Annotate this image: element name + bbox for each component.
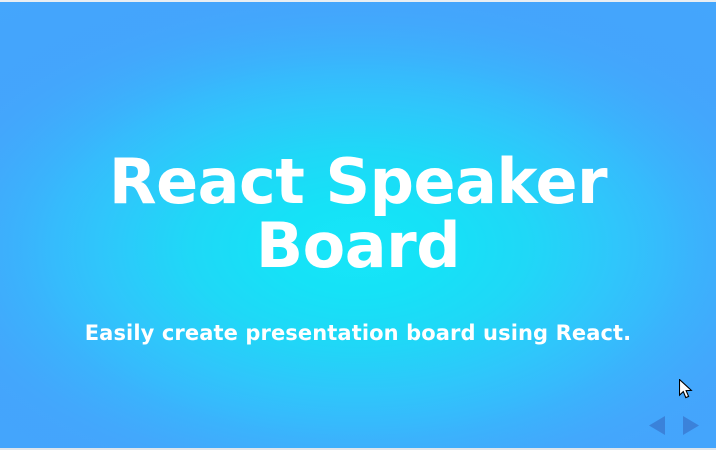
triangle-left-shape	[649, 416, 665, 435]
slide-title: React Speaker Board	[0, 150, 716, 278]
slide-content: React Speaker Board Easily create presen…	[0, 0, 716, 450]
triangle-right-shape	[683, 416, 699, 435]
slide-subtitle: Easily create presentation board using R…	[0, 319, 716, 347]
slide-navigation	[649, 416, 699, 435]
viewport-top-edge	[0, 0, 716, 2]
next-slide-icon[interactable]	[682, 416, 699, 435]
previous-slide-icon[interactable]	[649, 416, 666, 435]
presentation-slide[interactable]: React Speaker Board Easily create presen…	[0, 0, 716, 450]
